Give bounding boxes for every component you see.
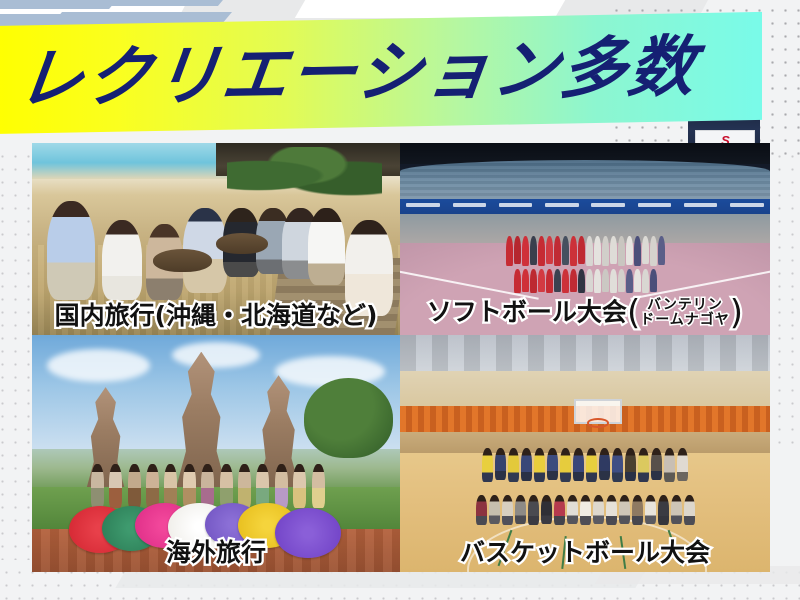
basketball-hoop-icon (587, 418, 610, 428)
person-figure (650, 269, 657, 292)
person-figure (256, 464, 269, 508)
person-figure (554, 236, 561, 266)
person-figure (546, 269, 553, 293)
person-figure (570, 269, 577, 292)
photo-card-domestic-travel[interactable]: 国内旅行(沖縄・北海道など) (32, 143, 400, 335)
person-figure (612, 448, 623, 482)
cloud (172, 342, 260, 368)
slide-canvas: S SUZUKI レクリエーション多数 国内旅行(沖縄・北海 (0, 0, 800, 600)
person-figure (594, 236, 601, 265)
tree (304, 378, 392, 459)
player-front-row (430, 495, 741, 525)
person-figure (102, 220, 142, 301)
photo-caption-basketball-tournament: バスケットボール大会 (400, 540, 770, 566)
caption-paren-line-1: バンテリン (640, 298, 730, 314)
person-figure (573, 448, 584, 481)
person-figure (522, 236, 529, 266)
person-figure (606, 495, 617, 525)
stadium-stands (400, 160, 770, 198)
sponsor-board (730, 203, 763, 207)
person-figure (586, 269, 593, 292)
person-figure (578, 269, 585, 293)
person-figure (312, 464, 325, 508)
sponsor-board (591, 203, 624, 207)
person-figure (201, 464, 214, 508)
person-figure (658, 495, 669, 525)
person-figure (625, 448, 636, 481)
person-figure (618, 269, 625, 292)
page-title: レクリエーション多数 (0, 34, 701, 113)
person-figure (650, 236, 657, 266)
person-figure (489, 495, 500, 524)
person-figure (664, 448, 675, 482)
person-figure (128, 464, 141, 508)
person-figure (586, 236, 593, 266)
person-figure (238, 464, 251, 508)
person-figure (293, 464, 306, 508)
caption-stacked-lines: バンテリンドームナゴヤ (640, 298, 730, 329)
team-group-front-row (459, 269, 711, 293)
person-figure (164, 464, 177, 508)
photo-card-overseas-travel[interactable]: 海外旅行 (32, 335, 400, 572)
caption-main-text: ソフトボール大会 (427, 297, 627, 326)
person-figure (586, 448, 597, 482)
photo-card-basketball-tournament[interactable]: バスケットボール大会 (400, 335, 770, 572)
title-banner-text-wrap: レクリエーション多数 (0, 12, 768, 134)
person-figure (645, 495, 656, 524)
person-figure (546, 236, 553, 264)
person-figure (508, 448, 519, 482)
photo-caption-domestic-travel: 国内旅行(沖縄・北海道など) (32, 303, 400, 329)
person-figure (626, 236, 633, 265)
person-figure (634, 236, 641, 266)
person-figure (521, 448, 532, 481)
dot-grid-left-edge (0, 150, 32, 560)
person-figure (530, 236, 537, 265)
person-figure (308, 208, 345, 285)
person-figure (562, 269, 569, 293)
paren-close: ) (730, 300, 743, 327)
person-figure (183, 464, 196, 508)
person-figure (515, 495, 526, 524)
person-figure (594, 269, 601, 293)
person-figure (547, 448, 558, 480)
person-figure (632, 495, 643, 525)
person-figure (47, 201, 95, 301)
person-figure (146, 464, 159, 508)
person-figure (275, 464, 288, 508)
sponsor-board (499, 203, 532, 207)
tropical-foliage (227, 147, 382, 205)
sponsor-board-row (400, 202, 770, 210)
person-figure (593, 495, 604, 524)
person-figure (677, 448, 688, 481)
person-figure (610, 236, 617, 264)
beach-sea (32, 143, 234, 179)
photo-card-softball-tournament[interactable]: ソフトボール大会(バンテリンドームナゴヤ) (400, 143, 770, 335)
person-figure (495, 448, 506, 480)
caption-parenthetical: (バンテリンドームナゴヤ) (627, 298, 743, 329)
person-figure (658, 236, 665, 265)
person-figure (578, 236, 585, 264)
person-figure (514, 236, 521, 264)
person-figure (602, 269, 609, 292)
person-figure (634, 269, 641, 292)
person-figure (684, 495, 695, 525)
person-figure (482, 448, 493, 482)
person-figure (671, 495, 682, 524)
person-figure (514, 269, 521, 293)
person-figure (109, 464, 122, 508)
low-table (216, 233, 268, 254)
paren-open: ( (627, 300, 640, 327)
person-figure (562, 236, 569, 265)
sponsor-board (684, 203, 717, 207)
background-grey-wedge-bottom (115, 572, 644, 588)
person-figure (570, 236, 577, 266)
player-back-row (444, 448, 725, 482)
person-figure (91, 464, 104, 508)
low-table (153, 249, 212, 272)
person-figure (638, 448, 649, 482)
person-figure (602, 236, 609, 266)
person-figure (560, 448, 571, 482)
person-figure (554, 495, 565, 525)
gym-ceiling (400, 335, 770, 373)
person-figure (618, 236, 625, 266)
sponsor-board (453, 203, 486, 207)
person-figure (642, 269, 649, 293)
person-figure (502, 495, 513, 525)
person-figure (567, 495, 578, 524)
person-figure (651, 448, 662, 480)
person-figure (554, 269, 561, 292)
person-figure (619, 495, 630, 524)
person-figure (534, 448, 545, 482)
person-figure (220, 464, 233, 508)
person-figure (528, 495, 539, 525)
person-figure (506, 236, 513, 266)
person-figure (642, 236, 649, 264)
photo-caption-softball-tournament: ソフトボール大会(バンテリンドームナゴヤ) (400, 298, 770, 329)
team-group-back-row (452, 236, 718, 266)
person-figure (538, 269, 545, 292)
accent-stripe-3 (28, 0, 228, 6)
photo-grid: 国内旅行(沖縄・北海道など) (32, 143, 770, 572)
photo-caption-overseas-travel: 海外旅行 (32, 540, 400, 566)
person-figure (522, 269, 529, 292)
person-figure (541, 495, 552, 524)
person-figure (626, 269, 633, 293)
person-figure (476, 495, 487, 525)
person-figure (538, 236, 545, 266)
person-figure (599, 448, 610, 480)
sponsor-board (406, 203, 439, 207)
sponsor-board (545, 203, 578, 207)
sponsor-board (638, 203, 671, 207)
caption-paren-line-2: ドームナゴヤ (640, 313, 730, 329)
person-figure (580, 495, 591, 525)
person-figure (610, 269, 617, 293)
person-figure (530, 269, 537, 293)
